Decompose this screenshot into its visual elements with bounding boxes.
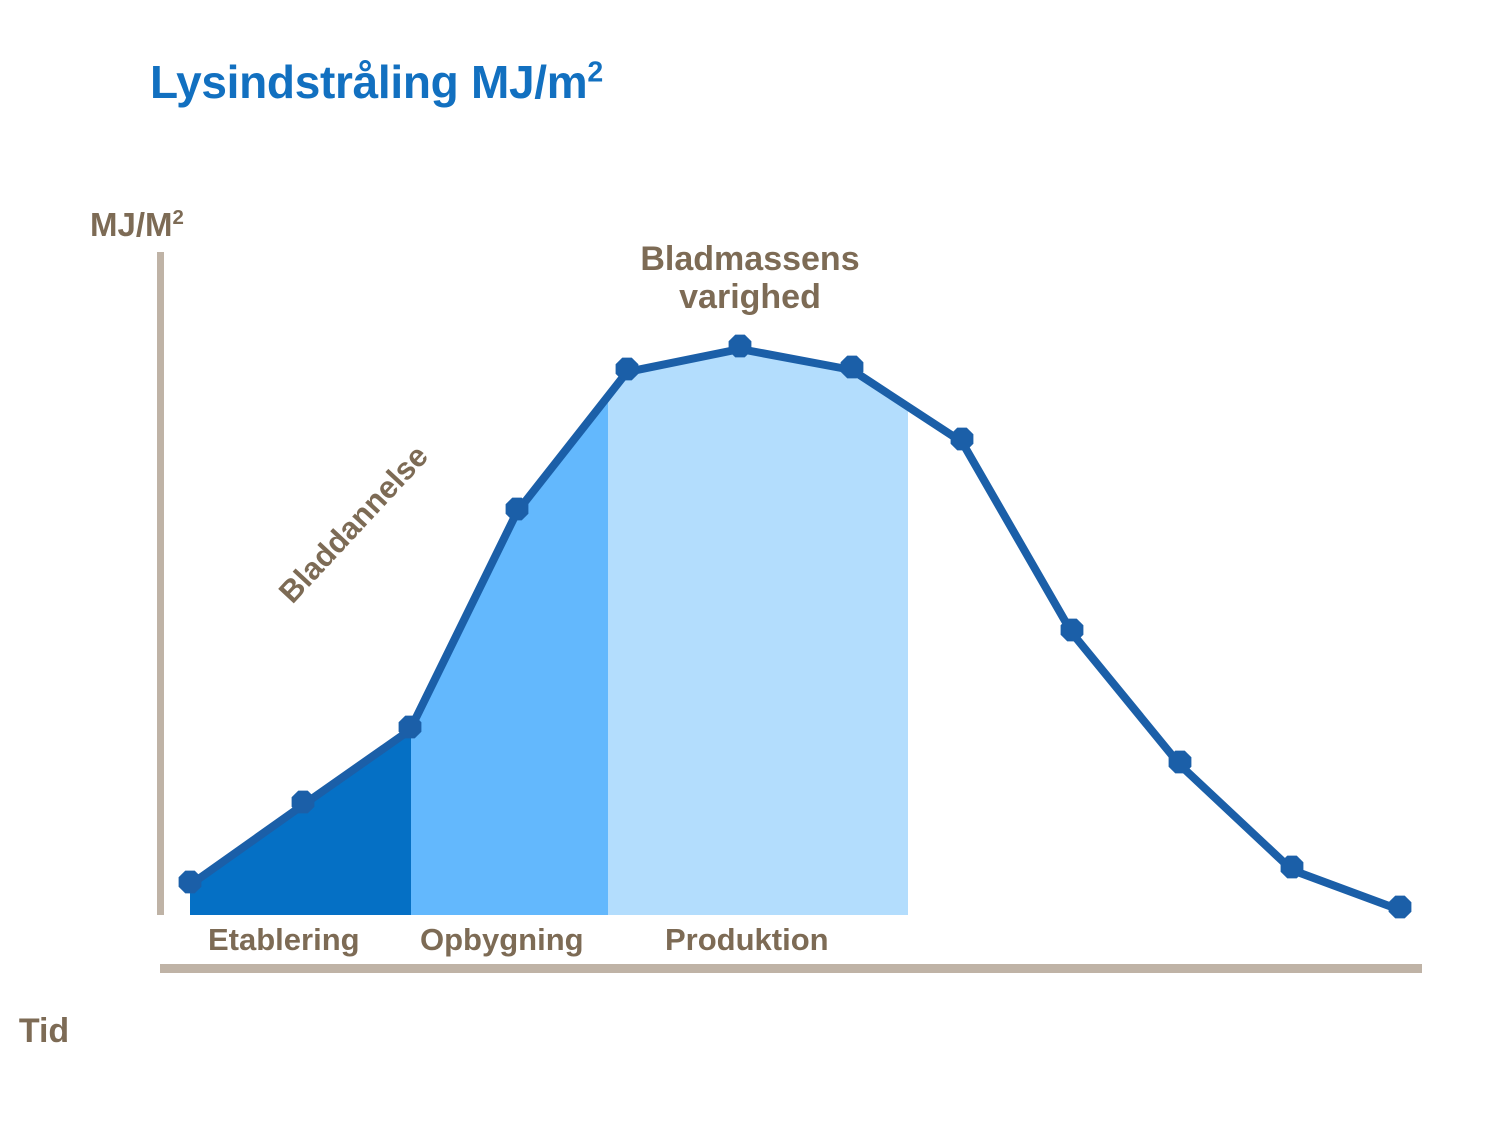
- area-band-opbygning: [411, 240, 608, 915]
- annotation-bladmassens-line1: Bladmassens: [600, 240, 900, 278]
- data-point-marker[interactable]: [616, 358, 639, 381]
- chart-area: MJ/M2 Bladmassens varighed Bladdannelse …: [0, 0, 1500, 1125]
- x-axis-label-text: Tid: [19, 1012, 69, 1051]
- data-point-marker[interactable]: [399, 716, 422, 739]
- data-point-marker[interactable]: [506, 498, 529, 521]
- category-label-etablering: Etablering: [208, 922, 360, 958]
- slide-canvas: Lysindstråling MJ/m2: [0, 0, 1500, 1125]
- y-axis-label-superscript: 2: [173, 206, 184, 229]
- data-point-marker[interactable]: [841, 356, 864, 379]
- x-axis-baseline-rule: [160, 964, 1422, 973]
- annotation-bladmassens-line2: varighed: [600, 278, 900, 316]
- category-label-produktion: Produktion: [665, 922, 829, 958]
- x-axis-label: Tid: [0, 1012, 1500, 1051]
- y-axis-line: [157, 252, 164, 915]
- data-point-marker[interactable]: [729, 335, 752, 358]
- data-point-marker[interactable]: [179, 871, 202, 894]
- data-point-marker[interactable]: [951, 428, 974, 451]
- data-point-marker[interactable]: [292, 791, 315, 814]
- annotation-bladmassens-varighed: Bladmassens varighed: [600, 240, 900, 317]
- data-point-marker[interactable]: [1169, 751, 1192, 774]
- data-point-marker[interactable]: [1061, 619, 1084, 642]
- area-fill-group: [160, 240, 908, 915]
- y-axis-label-text: MJ/M: [90, 206, 173, 243]
- data-point-marker[interactable]: [1389, 896, 1412, 919]
- area-band-produktion: [608, 240, 908, 915]
- y-axis-label: MJ/M2: [90, 206, 184, 244]
- data-point-marker[interactable]: [1281, 856, 1304, 879]
- category-label-opbygning: Opbygning: [420, 922, 584, 958]
